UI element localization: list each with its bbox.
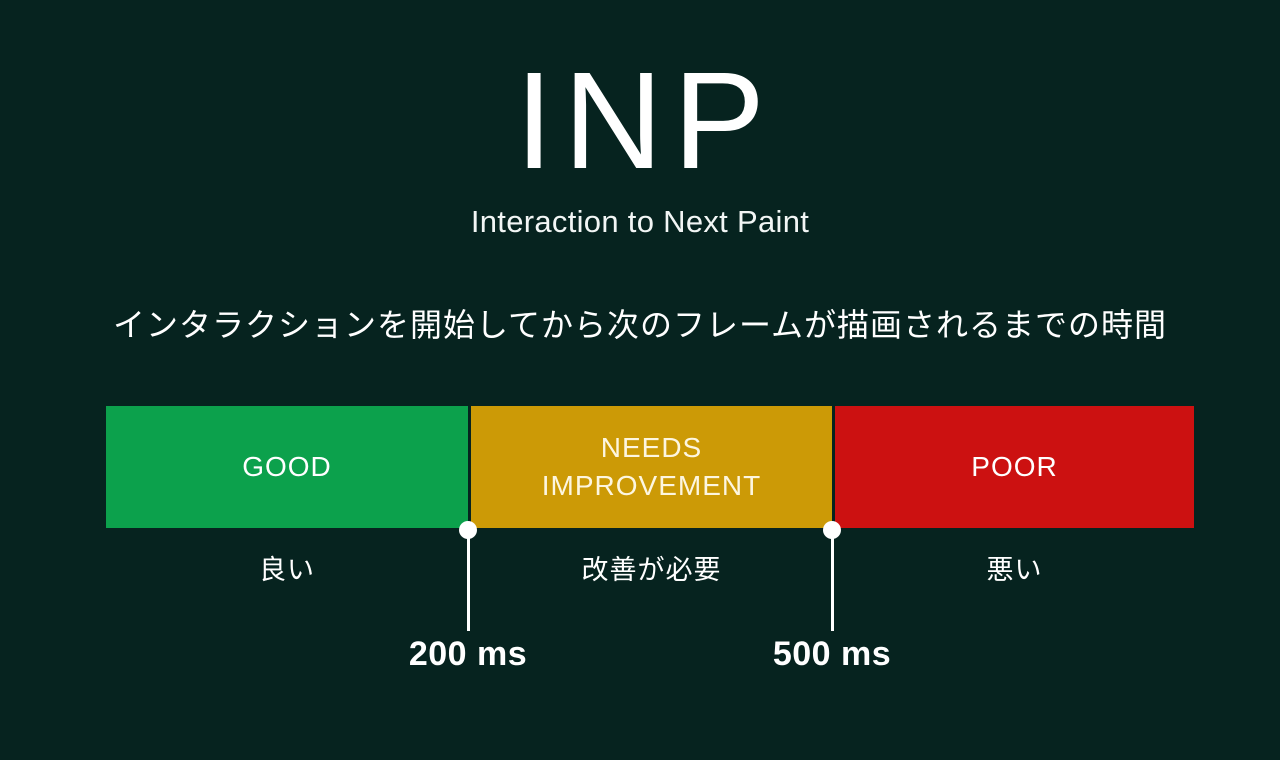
infographic-canvas: INP Interaction to Next Paint インタラクションを開… xyxy=(0,0,1280,760)
scale-sublabel-needs-improvement: 改善が必要 xyxy=(471,548,832,587)
scale-segment-good-label: GOOD xyxy=(242,448,332,486)
scale-segment-poor: POOR xyxy=(835,406,1194,528)
scale-segment-poor-label: POOR xyxy=(971,448,1057,486)
threshold-stem-500 xyxy=(831,530,834,631)
scale-segment-needs-improvement-label: NEEDS IMPROVEMENT xyxy=(542,429,761,505)
scale-sublabel-poor: 悪い xyxy=(835,548,1194,587)
metric-description: インタラクションを開始してから次のフレームが描画されるまでの時間 xyxy=(0,300,1280,346)
threshold-value-200: 200 ms xyxy=(338,635,598,674)
scale-sublabels: 良い 改善が必要 悪い xyxy=(106,548,1194,594)
page-title: INP xyxy=(0,52,1280,190)
threshold-scale-bar: GOOD NEEDS IMPROVEMENT POOR xyxy=(106,406,1194,528)
threshold-value-500: 500 ms xyxy=(702,635,962,674)
scale-segment-needs-improvement: NEEDS IMPROVEMENT xyxy=(471,406,832,528)
threshold-stem-200 xyxy=(467,530,470,631)
scale-segment-good: GOOD xyxy=(106,406,468,528)
metric-full-name: Interaction to Next Paint xyxy=(0,204,1280,240)
header: INP Interaction to Next Paint xyxy=(0,52,1280,240)
scale-sublabel-good: 良い xyxy=(106,548,468,587)
